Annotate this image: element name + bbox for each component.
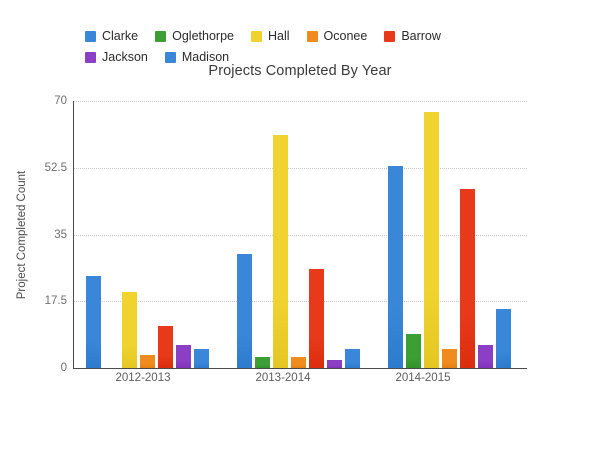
legend-item[interactable]: Hall xyxy=(251,28,290,45)
bar[interactable] xyxy=(86,276,101,368)
plot-area: 017.53552.570 xyxy=(73,101,527,369)
bar-group xyxy=(376,101,527,368)
y-axis-tick-label: 17.5 xyxy=(45,295,67,307)
bar[interactable] xyxy=(406,334,421,368)
y-axis-tick-label: 52.5 xyxy=(45,162,67,174)
bar[interactable] xyxy=(255,357,270,368)
legend-item-label: Hall xyxy=(268,30,290,43)
y-axis-tick-label: 70 xyxy=(54,95,67,107)
legend-item-label: Jackson xyxy=(102,51,148,64)
chart-title: Projects Completed By Year xyxy=(0,63,600,79)
legend-item-label: Clarke xyxy=(102,30,138,43)
legend-item-label: Oconee xyxy=(324,30,368,43)
bar[interactable] xyxy=(478,345,493,368)
bar-groups xyxy=(74,101,527,368)
x-axis-tick-label: 2013-2014 xyxy=(213,372,353,384)
bar-chart: ClarkeOglethorpeHallOconeeBarrowJacksonM… xyxy=(0,0,600,450)
bar[interactable] xyxy=(122,292,137,368)
legend-item[interactable]: Oconee xyxy=(307,28,368,45)
x-axis-tick-label: 2014-2015 xyxy=(353,372,493,384)
bar[interactable] xyxy=(424,112,439,368)
bar[interactable] xyxy=(273,135,288,368)
bar[interactable] xyxy=(309,269,324,368)
legend-swatch-icon xyxy=(85,31,96,42)
legend-swatch-icon xyxy=(251,31,262,42)
y-axis-title-label: Project Completed Count xyxy=(16,170,28,298)
legend-item-label: Barrow xyxy=(401,30,441,43)
bar-group xyxy=(74,101,225,368)
x-axis-ticks: 2012-20132013-20142014-2015 xyxy=(73,372,526,384)
bar[interactable] xyxy=(194,349,209,368)
y-axis-tick-label: 0 xyxy=(61,362,67,374)
bar[interactable] xyxy=(496,309,511,368)
legend-item[interactable]: Clarke xyxy=(85,28,138,45)
legend-swatch-icon xyxy=(165,52,176,63)
bar[interactable] xyxy=(140,355,155,368)
legend-item-label: Madison xyxy=(182,51,229,64)
legend-item[interactable]: Barrow xyxy=(384,28,441,45)
bar[interactable] xyxy=(345,349,360,368)
legend-swatch-icon xyxy=(307,31,318,42)
x-axis-tick-label: 2012-2013 xyxy=(73,372,213,384)
bar[interactable] xyxy=(388,166,403,368)
bar[interactable] xyxy=(158,326,173,368)
bar[interactable] xyxy=(327,360,342,368)
bar[interactable] xyxy=(460,189,475,368)
y-axis-title: Project Completed Count xyxy=(14,101,30,368)
legend-swatch-icon xyxy=(155,31,166,42)
legend-item-label: Oglethorpe xyxy=(172,30,234,43)
bar[interactable] xyxy=(291,357,306,368)
legend-swatch-icon xyxy=(85,52,96,63)
y-axis-tick-label: 35 xyxy=(54,229,67,241)
bar[interactable] xyxy=(237,254,252,368)
bar[interactable] xyxy=(442,349,457,368)
bar-group xyxy=(225,101,376,368)
bar[interactable] xyxy=(176,345,191,368)
legend-item[interactable]: Oglethorpe xyxy=(155,28,234,45)
legend-swatch-icon xyxy=(384,31,395,42)
